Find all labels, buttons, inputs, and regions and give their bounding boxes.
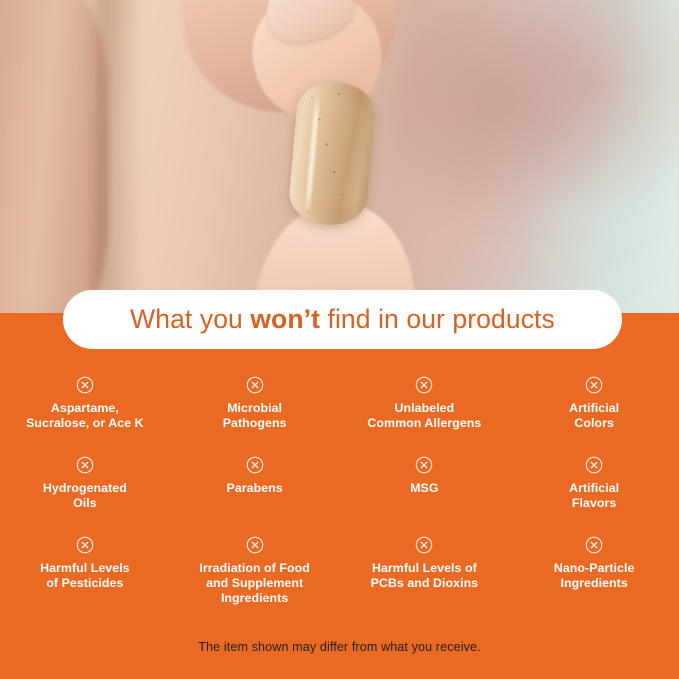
- grid-item-label: Aspartame, Sucralose, or Ace K: [26, 401, 144, 431]
- grid-item-label: Unlabeled Common Allergens: [367, 401, 481, 431]
- circle-x-icon: [415, 456, 433, 474]
- circle-x-icon: [76, 376, 94, 394]
- grid-item-irradiation: Irradiation of Food and Supplement Ingre…: [170, 528, 340, 616]
- grid-item-label: Hydrogenated Oils: [43, 481, 127, 511]
- circle-x-icon: [585, 536, 603, 554]
- title-suffix: find in our products: [320, 304, 555, 334]
- hero-photo: [0, 0, 679, 314]
- grid-item-nano-particle: Nano-Particle Ingredients: [509, 528, 679, 616]
- disclaimer-text: The item shown may differ from what you …: [198, 640, 480, 654]
- grid-item-label: Artificial Colors: [569, 401, 619, 431]
- grid-item-parabens: Parabens: [170, 448, 340, 528]
- grid-item-microbial-pathogens: Microbial Pathogens: [170, 368, 340, 448]
- title-prefix: What you: [130, 304, 250, 334]
- circle-x-icon: [76, 536, 94, 554]
- grid-row-1: Aspartame, Sucralose, or Ace K Microbial…: [0, 368, 679, 448]
- grid-item-unlabeled-allergens: Unlabeled Common Allergens: [340, 368, 510, 448]
- grid-item-artificial-colors: Artificial Colors: [509, 368, 679, 448]
- grid-item-label: Microbial Pathogens: [223, 401, 287, 431]
- circle-x-icon: [246, 456, 264, 474]
- circle-x-icon: [585, 456, 603, 474]
- grid-row-2: Hydrogenated Oils Parabens MSG Artificia…: [0, 448, 679, 528]
- grid-row-3: Harmful Levels of Pesticides Irradiation…: [0, 528, 679, 616]
- grid-item-label: Parabens: [227, 481, 283, 496]
- grid-item-label: Irradiation of Food and Supplement Ingre…: [199, 561, 309, 605]
- excluded-ingredients-grid: Aspartame, Sucralose, or Ace K Microbial…: [0, 368, 679, 616]
- grid-item-artificial-flavors: Artificial Flavors: [509, 448, 679, 528]
- title-emphasis: won’t: [250, 304, 320, 334]
- grid-item-pesticides: Harmful Levels of Pesticides: [0, 528, 170, 616]
- grid-item-msg: MSG: [340, 448, 510, 528]
- grid-item-hydrogenated-oils: Hydrogenated Oils: [0, 448, 170, 528]
- title-banner: What you won’t find in our products: [63, 290, 622, 349]
- grid-item-label: Harmful Levels of Pesticides: [40, 561, 130, 591]
- circle-x-icon: [246, 376, 264, 394]
- grid-item-label: Artificial Flavors: [569, 481, 619, 511]
- circle-x-icon: [415, 376, 433, 394]
- circle-x-icon: [585, 376, 603, 394]
- circle-x-icon: [246, 536, 264, 554]
- circle-x-icon: [76, 456, 94, 474]
- grid-item-label: Nano-Particle Ingredients: [554, 561, 635, 591]
- footer: The item shown may differ from what you …: [0, 638, 679, 656]
- grid-item-aspartame: Aspartame, Sucralose, or Ace K: [0, 368, 170, 448]
- grid-item-label: Harmful Levels of PCBs and Dioxins: [371, 561, 479, 591]
- grid-item-label: MSG: [410, 481, 438, 496]
- photo-vignette: [0, 0, 679, 314]
- circle-x-icon: [415, 536, 433, 554]
- product-claims-panel: What you won’t find in our products Aspa…: [0, 0, 679, 679]
- page-title: What you won’t find in our products: [130, 304, 555, 335]
- grid-item-pcbs-dioxins: Harmful Levels of PCBs and Dioxins: [340, 528, 510, 616]
